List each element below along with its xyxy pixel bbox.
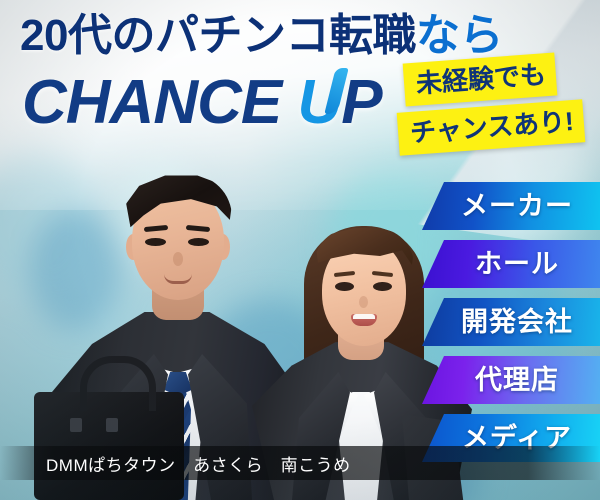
category-label-agency: 代理店 [463, 367, 559, 394]
headline-main: 20代のパチンコ転職 [20, 11, 416, 60]
category-button-list: メーカー ホール 開発会社 代理店 メディア [422, 182, 600, 472]
headline-suffix: なら [416, 11, 503, 60]
logo-letter-u: U [297, 72, 341, 134]
credits-text: DMMぱちタウン あさくら 南こうめ [0, 451, 351, 476]
category-button-maker[interactable]: メーカー [422, 182, 600, 230]
category-button-agency[interactable]: 代理店 [422, 356, 600, 404]
promo-badge-line-1: 未経験でも [403, 52, 558, 106]
category-button-hall[interactable]: ホール [422, 240, 600, 288]
category-button-development-company[interactable]: 開発会社 [422, 298, 600, 346]
headline: 20代のパチンコ転職なら [20, 14, 503, 58]
category-label-maker: メーカー [449, 193, 573, 220]
promo-badge: 未経験でも チャンスあり! [398, 56, 598, 160]
category-label-development-company: 開発会社 [449, 309, 573, 336]
advertisement-banner[interactable]: 20代のパチンコ転職なら CHANCE UP 未経験でも チャンスあり! メーカ… [0, 0, 600, 500]
chance-up-logo: CHANCE UP [22, 72, 382, 134]
logo-letter-p: P [341, 68, 381, 137]
category-label-hall: ホール [463, 251, 559, 278]
promo-badge-line-2: チャンスあり! [397, 99, 586, 155]
credits-bar: DMMぱちタウン あさくら 南こうめ [0, 446, 600, 480]
logo-word-chance: CHANCE [22, 68, 281, 137]
